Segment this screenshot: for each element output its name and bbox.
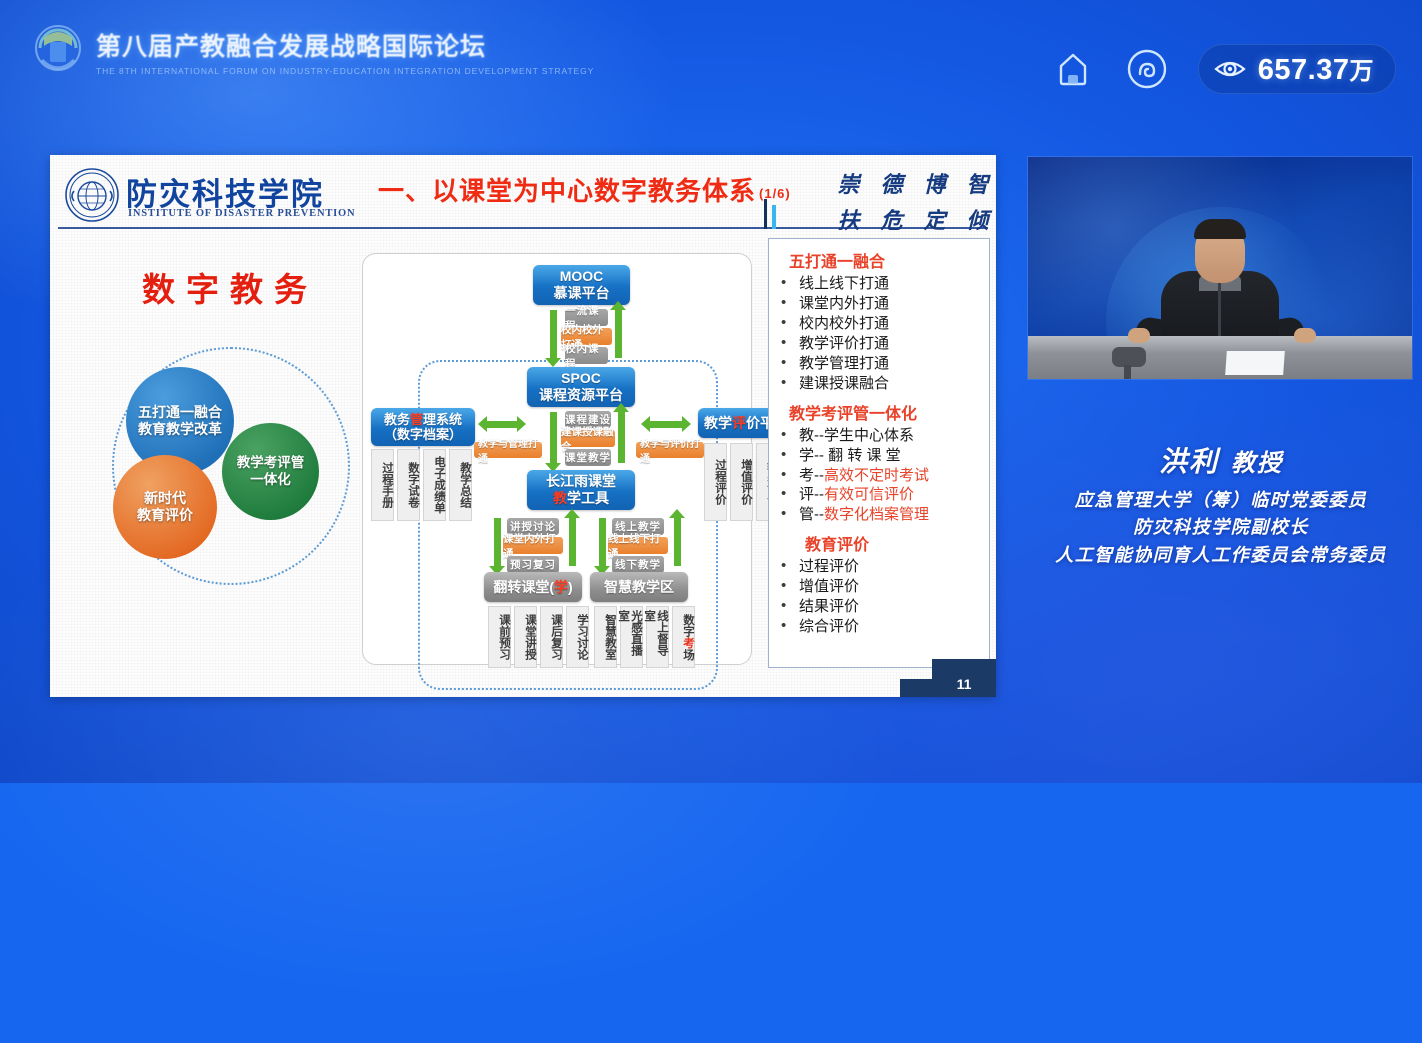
digital-academic-affairs-heading: 数字教务 [142,263,318,311]
chip-online-offline: 线上线下打通 [608,537,668,554]
flip-red-char: 学 [554,577,568,597]
presentation-slide[interactable]: 防灾科技学院 INSTITUTE OF DISASTER PREVENTION … [50,155,996,697]
chip-in-school-course: 校内课程 [565,347,608,364]
panel-item-black: 评-- [799,486,824,503]
motto-char: 智 [957,167,996,199]
panel-item: 线上线下打通 [777,274,983,294]
arrow-rain-to-spoc [618,412,625,463]
arrow-up-smart [674,518,681,566]
flip-col-in-class: 课堂讲授 [514,606,537,668]
smart-teaching-zone-box[interactable]: 智慧教学区 [590,572,688,602]
venn-orange-line2: 教育评价 [137,507,193,525]
arrow-spoc-to-mooc [615,310,622,358]
panel-list-1: 线上线下打通 课堂内外打通 校内校外打通 教学评价打通 教学管理打通 建课授课融… [777,274,983,394]
panel-item: 课堂内外打通 [777,294,983,314]
slide-page-number: 11 [932,659,996,697]
forum-title-cn: 第八届产教融合发展战略国际论坛 [96,27,594,63]
arrow-up-flip [569,518,576,566]
speaker-right-hand [1294,328,1316,343]
mooc-line1: MOOC [560,268,604,285]
motto-char: 扶 [828,203,869,235]
panel-item: 管--数字化档案管理 [777,505,983,525]
smart-label: 智慧教学区 [604,577,674,597]
forum-title-en: THE 8TH INTERNATIONAL FORUM ON INDUSTRY-… [96,66,594,76]
spoc-line1: SPOC [561,370,601,387]
arrow-down-flip [494,518,501,566]
panel-list-3: 过程评价 增值评价 结果评价 综合评价 [777,557,983,637]
admin-line2: （数字档案） [384,427,462,442]
spoc-platform-box[interactable]: SPOC 课程资源平台 [527,367,635,407]
wechat-miniprogram-icon[interactable] [1124,46,1170,92]
chip-offline-teaching: 线下教学 [612,556,664,573]
desk-paper [1225,351,1285,375]
top-bar: 第八届产教融合发展战略国际论坛 THE 8TH INTERNATIONAL FO… [0,0,1422,130]
panel-item: 校内校外打通 [777,314,983,334]
desk-microphone [1112,347,1146,367]
chip-in-out-classroom: 课堂内外打通 [503,537,563,554]
slide-number-step [900,679,932,697]
header-tick-dark [764,199,767,229]
arrow-teaching-eval [650,421,682,428]
panel-item: 综合评价 [777,617,983,637]
rain-line2: 教学工具 [553,490,609,507]
home-icon[interactable] [1050,46,1096,92]
chip-build-teach-fusion: 建课授课融合 [561,430,615,447]
speaker-video[interactable] [1028,157,1412,379]
header-tick-cyan [772,205,776,229]
arrow-down-smart [599,518,606,566]
mooc-platform-box[interactable]: MOOC 慕课平台 [533,265,630,305]
smart-col4-red-char: 考 [681,637,694,649]
smart-col-digital-exam-room: 数字考场 [672,606,695,668]
venn-circle-green: 教学考评管 一体化 [222,423,319,520]
admin-col-e-transcript: 电子成绩单 [423,449,446,521]
panel-heading-3: 教育评价 [805,531,983,555]
flipped-classroom-box[interactable]: 翻转课堂(学) [484,572,582,602]
flip-columns: 课前预习 课堂讲授 课后复习 学习讨论 [488,606,589,668]
motto-char: 德 [871,167,912,199]
chip-preview-review: 预习复习 [507,556,559,573]
speaker-name-line: 洪利教授 [1020,440,1422,480]
panel-item: 教学管理打通 [777,354,983,374]
forum-logo-icon [30,18,86,84]
motto-char: 定 [914,203,955,235]
panel-list-2: 教--学生中心体系 学-- 翻 转 课 堂 考--高效不定时考试 评--有效可信… [777,426,983,526]
flip-col-pre-class: 课前预习 [488,606,511,668]
panel-item-black: 考-- [799,467,824,484]
rain-line1: 长江雨课堂 [546,473,616,490]
venn-green-line2: 一体化 [237,472,305,489]
panel-item: 评--有效可信评价 [777,485,983,505]
admin-col-teaching-summary: 教学总结 [449,449,472,521]
smart-col-smart-classroom: 智慧教室 [594,606,617,668]
academic-admin-system-box[interactable]: 教务管理系统 （数字档案） [371,408,475,446]
rain-rest: 学工具 [567,490,609,506]
speaker-hair [1194,219,1246,239]
viewer-count-value: 657.37万 [1258,51,1374,87]
speaker-role: 教授 [1231,451,1283,477]
forum-brand-text: 第八届产教融合发展战略国际论坛 THE 8TH INTERNATIONAL FO… [96,27,594,76]
arrow-mooc-to-spoc [550,310,557,358]
flip-col-after-class: 课后复习 [540,606,563,668]
venn-blue-line1: 五打通一融合 [138,404,222,422]
video-desk [1028,336,1412,379]
slide-title: 一、以课堂为中心数字教务体系(1/6) [378,171,791,208]
admin-c: 理系统 [423,412,462,427]
smart-col-online-supervision: 线上督导室 [646,606,669,668]
speaker-name: 洪利 [1159,447,1219,478]
motto-char: 危 [871,203,912,235]
panel-heading-1: 五打通一融合 [789,248,983,272]
summary-panel: 五打通一融合 线上线下打通 课堂内外打通 校内校外打通 教学评价打通 教学管理打… [768,238,990,668]
admin-columns: 过程手册 数字试卷 电子成绩单 教学总结 [371,449,472,521]
panel-item: 建课授课融合 [777,374,983,394]
top-right-controls: 657.37万 [1050,44,1396,94]
eval-col-process: 过程评价 [704,443,727,521]
panel-item: 结果评价 [777,597,983,617]
panel-item: 学-- 翻 转 课 堂 [777,446,983,466]
panel-heading-2: 教学考评管一体化 [789,400,983,424]
speaker-caption: 洪利教授 应急管理大学（筹）临时党委委员 防灾科技学院副校长 人工智能协同育人工… [1020,440,1422,569]
viewer-count-unit: 万 [1350,58,1375,85]
panel-item: 考--高效不定时考试 [777,466,983,486]
eval-red-char: 评 [732,415,746,431]
panel-item: 增值评价 [777,577,983,597]
viewer-count-number: 657.37 [1258,54,1350,86]
rain-classroom-box[interactable]: 长江雨课堂 教学工具 [527,470,635,510]
mooc-line2: 慕课平台 [554,285,610,302]
flip-c: ) [568,579,573,595]
motto-char: 倾 [957,203,996,235]
speaker-title-3: 人工智能协同育人工作委员会常务委员 [1020,542,1422,569]
panel-item-red: 数字化档案管理 [824,506,929,523]
eval-col-value-added: 增值评价 [730,443,753,521]
panel-item-red: 高效不定时考试 [824,467,929,484]
flip-col-discussion: 学习讨论 [566,606,589,668]
eval-a: 教学 [704,415,732,431]
venn-green-line1: 教学考评管 [237,455,305,472]
venn-circle-orange: 新时代 教育评价 [113,455,217,559]
admin-col-digital-exam: 数字试卷 [397,449,420,521]
venn-orange-line1: 新时代 [137,490,193,508]
panel-item: 教--学生中心体系 [777,426,983,446]
school-emblem-icon [64,167,120,223]
slide-header: 防灾科技学院 INSTITUTE OF DISASTER PREVENTION … [50,155,996,231]
panel-item-red: 有效可信评价 [824,486,914,503]
spoc-line2: 课程资源平台 [539,387,623,404]
arrow-admin-teaching [487,421,517,428]
desk-microphone-stand [1124,365,1131,379]
rain-red-char: 教 [553,490,567,506]
viewer-count-badge: 657.37万 [1198,44,1396,94]
speaker-title-2: 防灾科技学院副校长 [1020,514,1422,541]
admin-col-process-manual: 过程手册 [371,449,394,521]
admin-a: 教务 [384,412,410,427]
admin-line1: 教务管理系统 [384,412,462,427]
school-name-en: INSTITUTE OF DISASTER PREVENTION [128,208,355,219]
venn-blue-line2: 教育教学改革 [138,421,222,439]
chip-classroom-teaching: 课堂教学 [565,449,611,466]
flip-a: 翻转课堂( [493,577,554,597]
slide-title-text: 一、以课堂为中心数字教务体系 [378,176,756,206]
panel-item-black: 管-- [799,506,824,523]
speaker-title-1: 应急管理大学（筹）临时党委委员 [1020,487,1422,514]
admin-red-char: 管 [410,412,423,427]
speaker-left-hand [1128,328,1150,343]
motto-char: 崇 [828,167,869,199]
arrow-spoc-to-rain [550,412,557,463]
smart-columns: 智慧教室 光感直播室 线上督导室 数字考场 [594,606,695,668]
forum-brand: 第八届产教融合发展战略国际论坛 THE 8TH INTERNATIONAL FO… [30,18,594,84]
smart-col-live-studio: 光感直播室 [620,606,643,668]
link-label-teaching-eval: 教学与评价打通 [636,442,704,458]
motto-char: 博 [914,167,955,199]
eye-icon [1214,56,1246,82]
link-label-teaching-admin: 教学与管理打通 [474,442,542,458]
school-motto-calligraphy: 崇 德 博 智 扶 危 定 倾 [828,167,996,235]
panel-item: 教学评价打通 [777,334,983,354]
panel-item: 过程评价 [777,557,983,577]
